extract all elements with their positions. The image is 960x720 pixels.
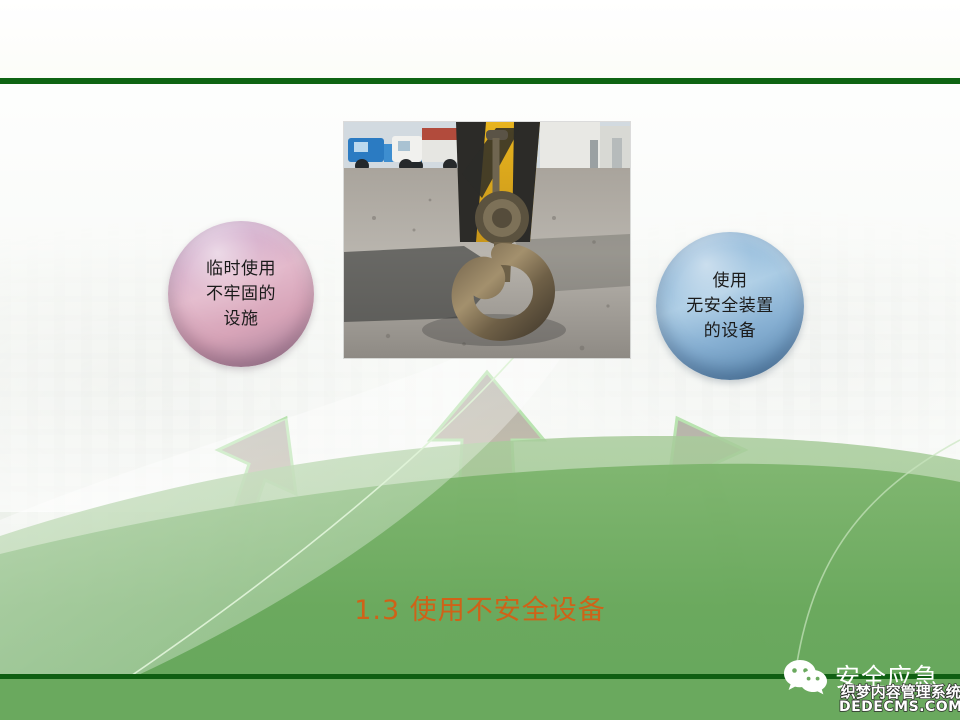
bubble-equipment-without-safety-device[interactable]: 使用 无安全装置 的设备 — [656, 232, 804, 380]
watermark-english: DEDECMS.COM — [839, 700, 960, 715]
slide-canvas: 临时使用 不牢固的 设施 使用 无安全装置 的设备 1.3 使用不安全设备 安全… — [0, 0, 960, 720]
bubble-left-line-2: 不牢固的 — [206, 282, 276, 307]
bubble-right-line-1: 使用 — [713, 269, 748, 294]
bubble-left-line-3: 设施 — [224, 307, 259, 332]
wechat-icon — [783, 658, 829, 698]
watermark-chinese: 织梦内容管理系统 — [839, 684, 960, 700]
bubble-right-line-3: 的设备 — [704, 319, 757, 344]
bubble-left-line-1: 临时使用 — [206, 257, 276, 282]
crane-hook-photo — [344, 122, 630, 358]
bubble-temporary-unstable-facility[interactable]: 临时使用 不牢固的 设施 — [168, 221, 314, 367]
crane-boom — [456, 122, 540, 245]
dedecms-watermark: 织梦内容管理系统 DEDECMS.COM — [839, 684, 960, 715]
footer-account-badge: 安全应急 织梦内容管理系统 DEDECMS.COM — [783, 654, 960, 716]
bubble-right-line-2: 无安全装置 — [686, 294, 774, 319]
slide-title: 1.3 使用不安全设备 — [0, 588, 960, 627]
